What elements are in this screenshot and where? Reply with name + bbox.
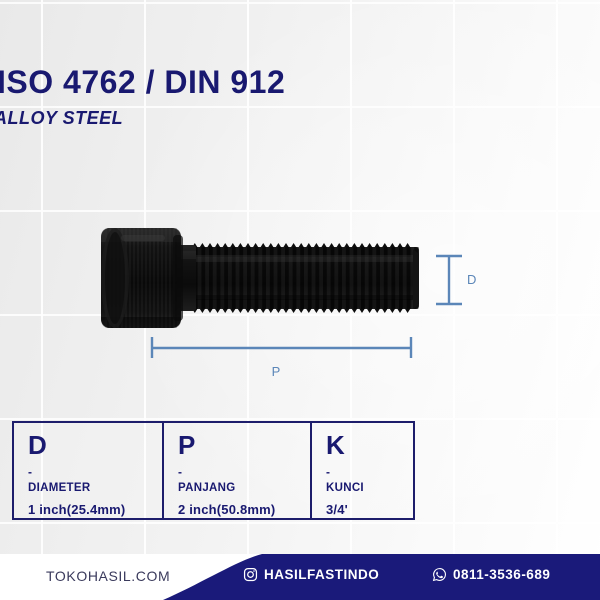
spec-name: PANJANG — [178, 483, 310, 495]
footer-whatsapp[interactable]: 0811-3536-689 — [432, 567, 550, 582]
spec-value: 1 inch(25.4mm) — [28, 503, 162, 516]
dimension-label-d: D — [467, 272, 476, 287]
whatsapp-icon — [432, 567, 447, 582]
spec-value: 3/4' — [326, 503, 413, 516]
spec-dash: - — [178, 466, 310, 478]
footer-website[interactable]: TOKOHASIL.COM — [46, 568, 170, 584]
product-spec-card: ISO 4762 / DIN 912 ALLOY STEEL — [0, 0, 600, 600]
dimension-label-p: P — [272, 364, 281, 379]
spec-column-panjang: P - PANJANG 2 inch(50.8mm) — [164, 423, 312, 518]
spec-dash: - — [326, 466, 413, 478]
instagram-handle: HASILFASTINDO — [264, 567, 379, 582]
dimension-marker-p: P — [145, 336, 420, 382]
page-subtitle: ALLOY STEEL — [0, 108, 420, 129]
spec-column-kunci: K - KUNCI 3/4' — [312, 423, 413, 518]
spec-key: D — [28, 432, 162, 458]
spec-table: D - DIAMETER 1 inch(25.4mm) P - PANJANG … — [12, 421, 415, 520]
spec-value: 2 inch(50.8mm) — [178, 503, 310, 516]
instagram-icon — [243, 567, 258, 582]
spec-name: KUNCI — [326, 483, 413, 495]
footer-instagram[interactable]: HASILFASTINDO — [243, 567, 379, 582]
product-image-socket-head-cap-screw — [95, 225, 425, 335]
dimension-marker-d: D — [432, 252, 492, 312]
spec-dash: - — [28, 466, 162, 478]
footer: TOKOHASIL.COM HASILFASTINDO 0811-3536-68… — [0, 554, 600, 600]
spec-column-diameter: D - DIAMETER 1 inch(25.4mm) — [14, 423, 164, 518]
spec-key: P — [178, 432, 310, 458]
page-title: ISO 4762 / DIN 912 — [0, 66, 420, 98]
spec-key: K — [326, 432, 413, 458]
spec-name: DIAMETER — [28, 483, 162, 495]
header: ISO 4762 / DIN 912 ALLOY STEEL — [0, 66, 420, 129]
whatsapp-number: 0811-3536-689 — [453, 567, 550, 582]
